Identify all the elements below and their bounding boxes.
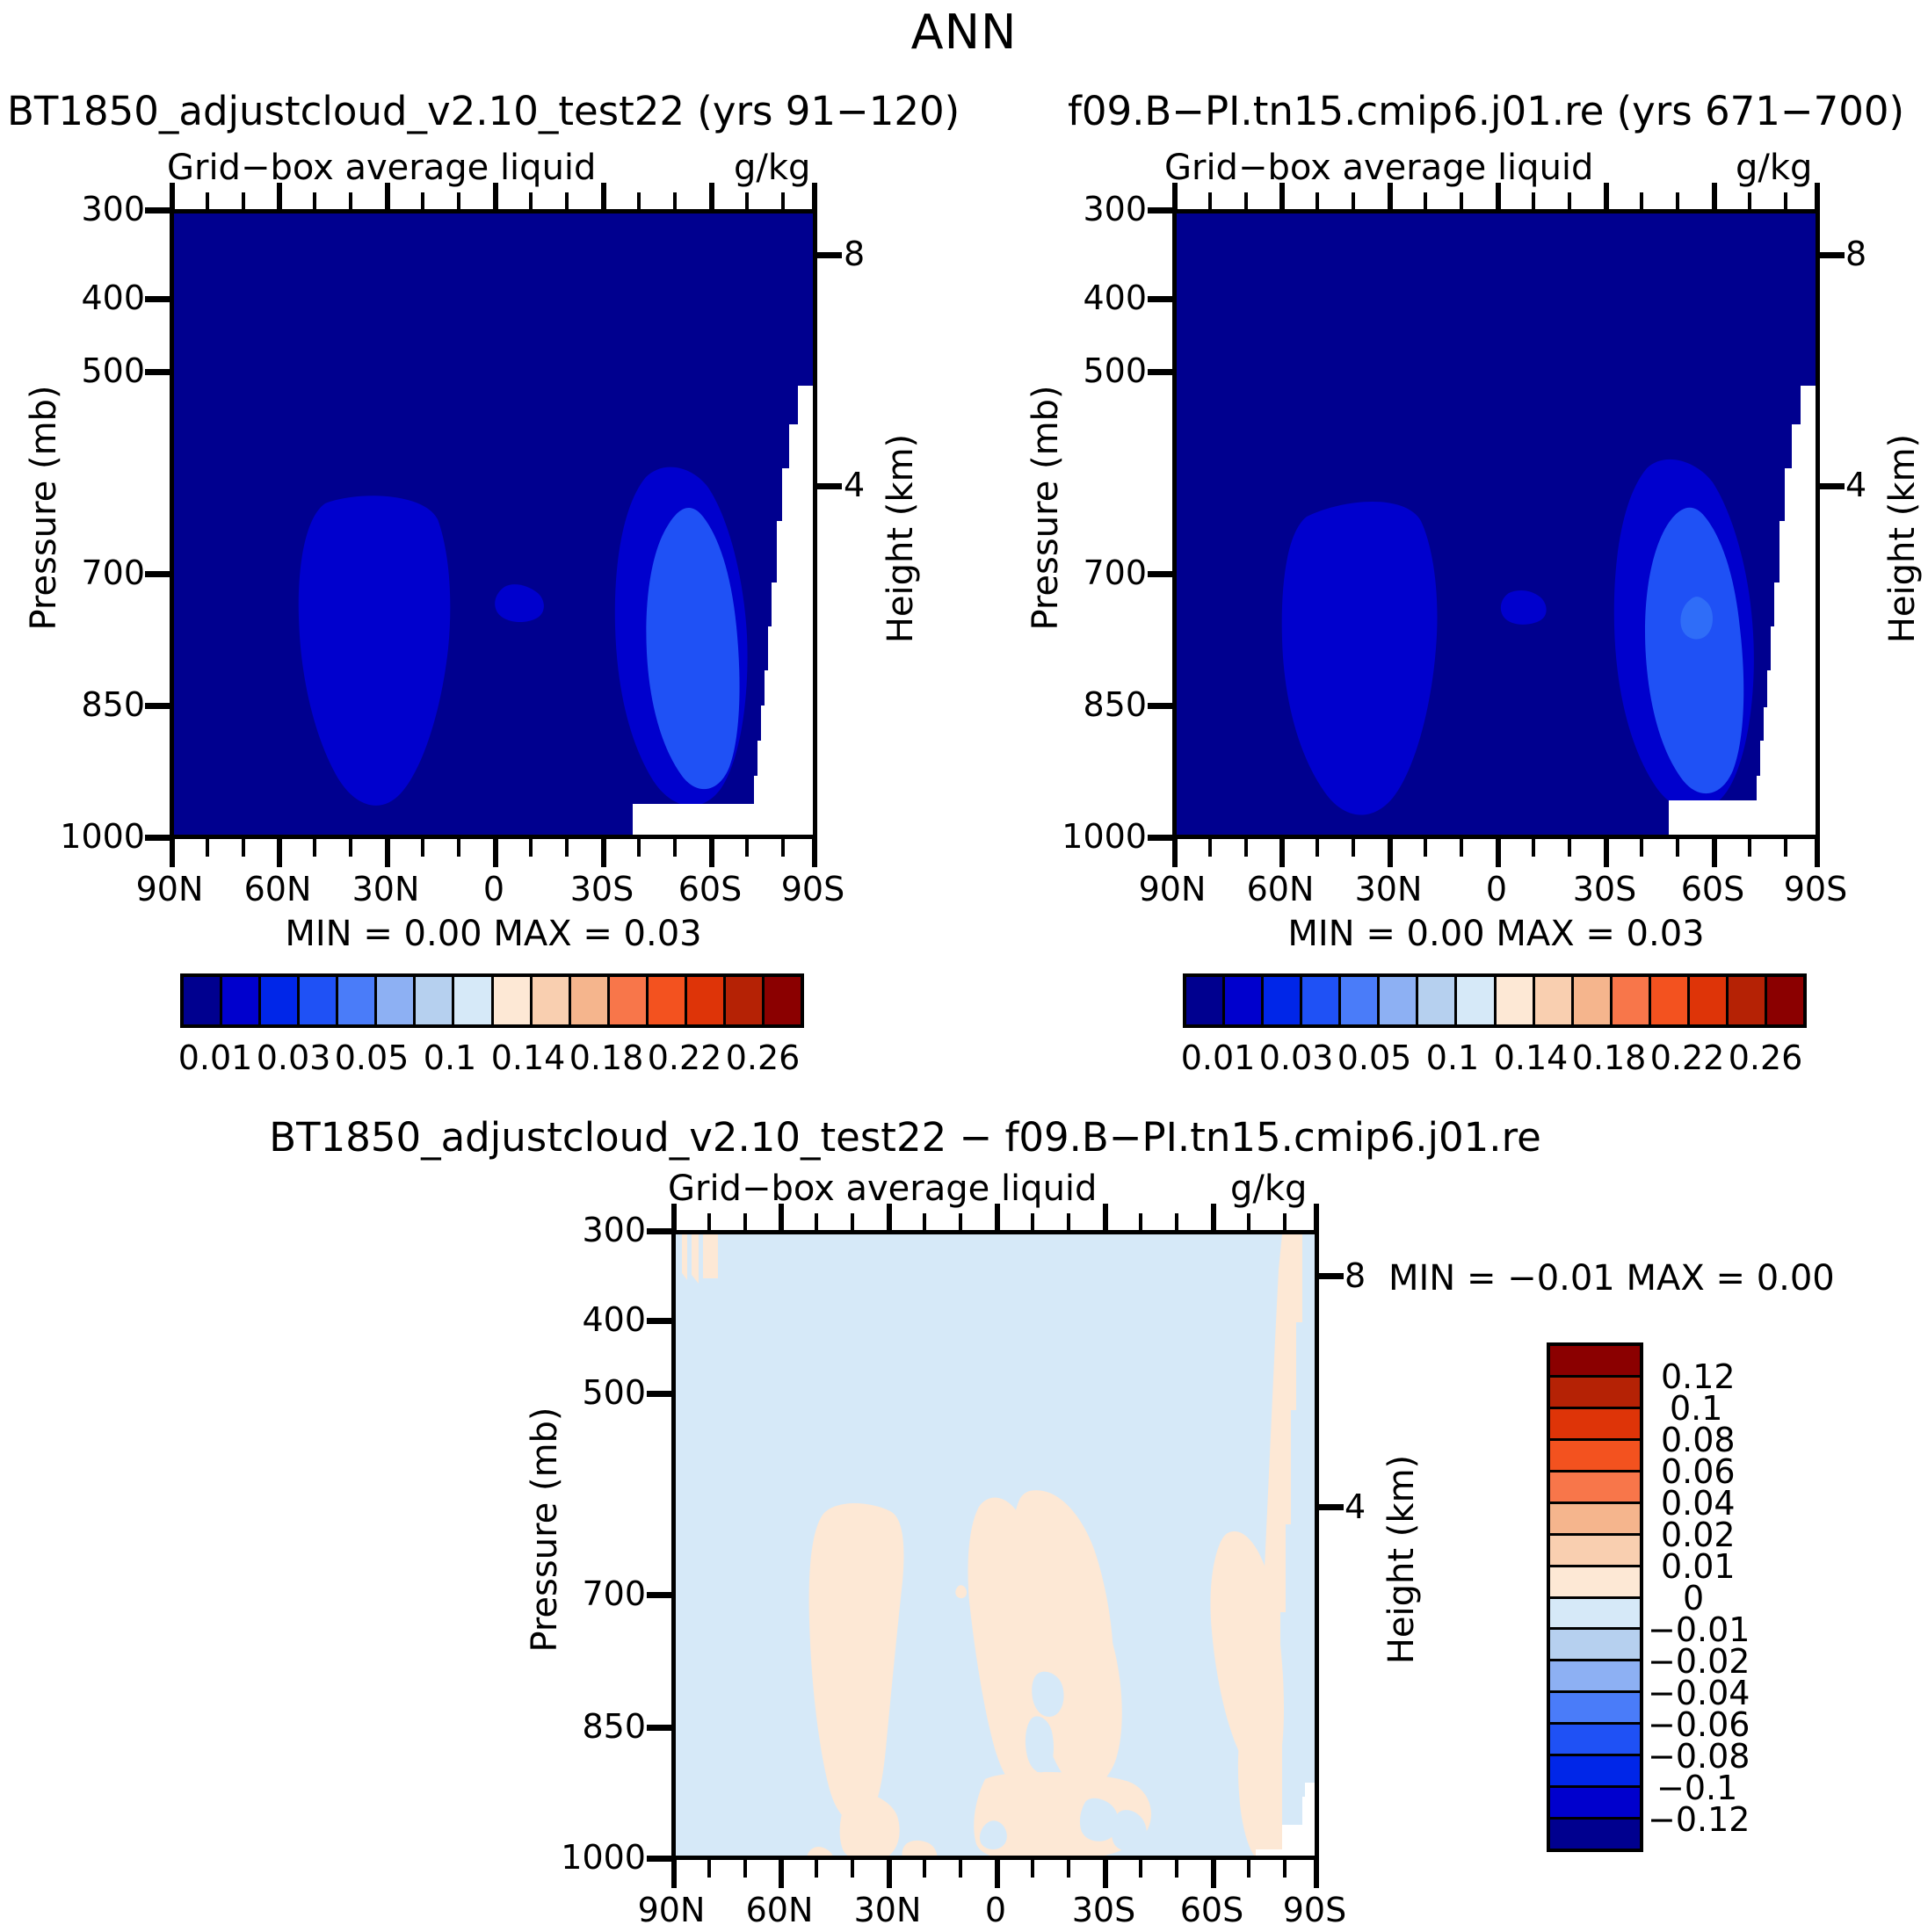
cbar-r-cell-9[interactable] <box>1535 977 1574 1024</box>
cbar-cell-0[interactable] <box>184 977 222 1024</box>
diff-minmax: MIN = −0.01 MAX = 0.00 <box>1388 1258 1835 1299</box>
top-right-xtick-top-1 <box>1279 183 1285 211</box>
diff-xtick-bot-minor-3 <box>851 1860 854 1878</box>
top-right-y2tick-4: 4 <box>1845 466 1866 504</box>
top-right-ytick-mark-500 <box>1148 369 1174 375</box>
top-left-xtick-top-6 <box>812 183 817 211</box>
top-right-xtick-top-3 <box>1496 183 1501 211</box>
top-left-ytick-mark-500 <box>145 369 171 375</box>
diff-xtick-bot-minor-10 <box>1247 1860 1250 1878</box>
top-right-ytick-mark-300 <box>1148 207 1174 213</box>
top-left-xtick-top-minor-7 <box>565 192 569 210</box>
top-right-xtick-bot-minor-3 <box>1352 839 1355 857</box>
top-right-xtick-bot-6 <box>1815 839 1820 867</box>
top-left-xtick-top-0 <box>170 183 175 211</box>
top-left-xtick-top-minor-1 <box>242 192 245 210</box>
cbar-r-cell-4[interactable] <box>1341 977 1380 1024</box>
cbar-r-label-4: 0.14 <box>1491 1038 1570 1077</box>
cbar-cell-4[interactable] <box>338 977 377 1024</box>
top-right-xtick-bot-2 <box>1388 839 1393 867</box>
cbar-r-cell-3[interactable] <box>1302 977 1341 1024</box>
top-left-xtick-top-minor-3 <box>349 192 352 210</box>
top-right-ytick-mark-850 <box>1148 703 1174 709</box>
cbarv-cell-11[interactable] <box>1550 1693 1640 1725</box>
top-left-xtick-bot-5 <box>709 839 714 867</box>
diff-xtick-top-minor-8 <box>1139 1213 1142 1231</box>
top-left-xtick-bot-3 <box>493 839 498 867</box>
diff-xtick-top-minor-11 <box>1283 1213 1287 1231</box>
top-left-xtick-top-minor-9 <box>673 192 677 210</box>
diff-xtick-bot-minor-9 <box>1175 1860 1178 1878</box>
top-left-panel-title: BT1850_adjustcloud_v2.10_test22 (yrs 91−… <box>7 88 1009 134</box>
diff-ytick-300: 300 <box>571 1211 646 1249</box>
top-left-ytick-mark-400 <box>145 296 171 302</box>
top-right-ytick-mark-700 <box>1148 571 1174 577</box>
cbar-r-label-2: 0.05 <box>1335 1038 1414 1077</box>
top-left-xtick-bot-4 <box>601 839 606 867</box>
cbar-r-cell-13[interactable] <box>1690 977 1729 1024</box>
top-right-plot <box>1172 209 1820 839</box>
top-left-xtick-label-0: 0 <box>446 870 542 908</box>
top-right-xtick-top-minor-7 <box>1568 192 1571 210</box>
cbar-r-cell-14[interactable] <box>1729 977 1767 1024</box>
top-right-xtick-bot-minor-4 <box>1424 839 1427 857</box>
cbarv-label-14: −0.12 <box>1648 1800 1750 1839</box>
top-right-xtick-top-minor-2 <box>1316 192 1319 210</box>
cbar-label-1: 0.03 <box>254 1038 333 1077</box>
top-left-xtick-bot-2 <box>385 839 390 867</box>
diff-xtick-top-2 <box>887 1204 892 1232</box>
top-right-xtick-bot-5 <box>1712 839 1717 867</box>
top-right-xtick-label-0: 0 <box>1448 870 1545 908</box>
top-left-plot <box>170 209 817 839</box>
cbar-r-cell-10[interactable] <box>1574 977 1613 1024</box>
top-right-xtick-top-minor-11 <box>1784 192 1787 210</box>
top-right-xtick-top-5 <box>1712 183 1717 211</box>
top-right-xtick-label-30S: 30S <box>1556 870 1653 908</box>
cbar-r-cell-12[interactable] <box>1651 977 1690 1024</box>
cbarv-cell-9[interactable] <box>1550 1630 1640 1661</box>
top-right-xtick-bot-4 <box>1604 839 1609 867</box>
top-left-xtick-bot-minor-7 <box>565 839 569 857</box>
diff-xtick-top-minor-9 <box>1175 1213 1178 1231</box>
top-right-colorbar[interactable] <box>1183 973 1807 1028</box>
top-right-xtick-top-minor-10 <box>1748 192 1751 210</box>
diff-contour-field <box>676 1234 1319 1860</box>
top-right-contour-field <box>1177 213 1820 839</box>
cbarv-cell-5[interactable] <box>1550 1504 1640 1536</box>
cbar-cell-5[interactable] <box>377 977 416 1024</box>
top-left-xtick-top-1 <box>277 183 282 211</box>
top-right-xtick-label-60N: 60N <box>1232 870 1329 908</box>
diff-ytick-mark-300 <box>647 1228 673 1234</box>
top-left-colorbar[interactable] <box>180 973 804 1028</box>
diff-y2tick-4: 4 <box>1345 1487 1366 1526</box>
top-left-y2tick-mark-4 <box>815 483 842 489</box>
cbar-r-cell-11[interactable] <box>1613 977 1651 1024</box>
diff-xtick-label-60S: 60S <box>1163 1891 1260 1929</box>
top-left-y2tick-mark-8 <box>815 252 842 258</box>
diff-plot <box>671 1230 1319 1860</box>
diff-xtick-top-5 <box>1211 1204 1216 1232</box>
diff-plot-canvas <box>676 1234 1315 1856</box>
top-left-xtick-bot-minor-4 <box>421 839 424 857</box>
top-left-ytick-mark-1000 <box>145 835 171 841</box>
top-right-xtick-top-minor-4 <box>1424 192 1427 210</box>
diff-xtick-label-0: 0 <box>947 1891 1044 1929</box>
top-left-xtick-top-minor-0 <box>206 192 209 210</box>
cbarv-cell-1[interactable] <box>1550 1378 1640 1409</box>
diff-xtick-top-minor-1 <box>743 1213 747 1231</box>
cbar-cell-2[interactable] <box>261 977 300 1024</box>
top-right-xtick-bot-1 <box>1279 839 1285 867</box>
top-right-ytick-mark-400 <box>1148 296 1174 302</box>
top-right-xtick-top-minor-6 <box>1532 192 1535 210</box>
diff-xtick-top-minor-10 <box>1247 1213 1250 1231</box>
top-left-xtick-top-minor-4 <box>421 192 424 210</box>
top-left-xtick-bot-minor-2 <box>313 839 316 857</box>
cbar-label-2: 0.05 <box>332 1038 411 1077</box>
diff-y2tick-mark-8 <box>1317 1273 1344 1279</box>
diff-xtick-bot-3 <box>995 1860 1000 1888</box>
diff-xtick-bot-minor-7 <box>1067 1860 1070 1878</box>
cbarv-cell-13[interactable] <box>1550 1756 1640 1788</box>
cbarv-cell-8[interactable] <box>1550 1599 1640 1631</box>
cbar-r-label-3: 0.1 <box>1413 1038 1492 1077</box>
cbarv-cell-15[interactable] <box>1550 1820 1640 1849</box>
cbarv-cell-6[interactable] <box>1550 1536 1640 1567</box>
diff-xtick-top-0 <box>671 1204 677 1232</box>
top-left-xtick-bot-6 <box>812 839 817 867</box>
top-left-ytick-1000: 1000 <box>53 817 145 856</box>
cbar-cell-14[interactable] <box>726 977 765 1024</box>
cbarv-cell-10[interactable] <box>1550 1661 1640 1693</box>
diff-xtick-label-30S: 30S <box>1055 1891 1152 1929</box>
top-right-xtick-label-90N: 90N <box>1124 870 1221 908</box>
top-right-xtick-bot-minor-1 <box>1244 839 1248 857</box>
top-right-units-label: g/kg <box>1736 148 1812 188</box>
top-left-ytick-300: 300 <box>70 190 145 228</box>
top-left-ytick-mark-700 <box>145 571 171 577</box>
diff-units-label: g/kg <box>1230 1169 1307 1209</box>
diff-xtick-bot-4 <box>1103 1860 1108 1888</box>
top-right-xtick-label-60S: 60S <box>1664 870 1761 908</box>
top-left-contour-field <box>174 213 817 839</box>
cbar-r-label-7: 0.26 <box>1726 1038 1805 1077</box>
diff-ytick-400: 400 <box>571 1300 646 1339</box>
diff-ytick-mark-1000 <box>647 1856 673 1862</box>
cbar-label-6: 0.22 <box>645 1038 724 1077</box>
diff-xtick-bot-2 <box>887 1860 892 1888</box>
top-left-xtick-top-minor-8 <box>637 192 641 210</box>
diff-xtick-label-30N: 30N <box>839 1891 936 1929</box>
top-right-y2label: Height (km) <box>1882 394 1923 684</box>
cbar-r-cell-7[interactable] <box>1457 977 1496 1024</box>
top-left-minmax: MIN = 0.00 MAX = 0.03 <box>170 914 817 954</box>
diff-y2tick-mark-4 <box>1317 1504 1344 1510</box>
top-right-xtick-top-minor-1 <box>1244 192 1248 210</box>
diff-panel-title: BT1850_adjustcloud_v2.10_test22 − f09.B−… <box>0 1114 1810 1161</box>
top-left-xtick-top-4 <box>601 183 606 211</box>
cbarv-cell-3[interactable] <box>1550 1441 1640 1473</box>
top-right-xtick-top-2 <box>1388 183 1393 211</box>
top-left-xtick-top-minor-11 <box>781 192 785 210</box>
top-right-y2tick-mark-8 <box>1818 252 1845 258</box>
diff-ytick-mark-850 <box>647 1725 673 1731</box>
top-right-ytick-500: 500 <box>1072 351 1147 390</box>
page-title: ANN <box>0 4 1928 60</box>
cbar-label-7: 0.26 <box>723 1038 802 1077</box>
top-left-ytick-mark-850 <box>145 703 171 709</box>
cbarv-cell-7[interactable] <box>1550 1567 1640 1599</box>
top-left-ytick-700: 700 <box>70 554 145 592</box>
top-left-y2tick-4: 4 <box>844 466 865 504</box>
top-right-y2tick-mark-4 <box>1818 483 1845 489</box>
top-left-ytick-850: 850 <box>70 685 145 724</box>
cbar-cell-8[interactable] <box>494 977 533 1024</box>
top-left-xtick-bot-minor-10 <box>745 839 749 857</box>
top-left-xtick-label-60N: 60N <box>229 870 326 908</box>
diff-xtick-top-minor-2 <box>815 1213 818 1231</box>
diff-xtick-top-4 <box>1103 1204 1108 1232</box>
top-left-xtick-label-30N: 30N <box>337 870 434 908</box>
top-left-ytick-400: 400 <box>70 279 145 317</box>
top-right-var-label: Grid−box average liquid <box>1164 148 1593 188</box>
cbar-label-0: 0.01 <box>176 1038 255 1077</box>
top-right-ytick-850: 850 <box>1072 685 1147 724</box>
cbar-cell-10[interactable] <box>571 977 610 1024</box>
top-right-xtick-bot-minor-10 <box>1748 839 1751 857</box>
diff-xtick-label-90N: 90N <box>623 1891 720 1929</box>
top-left-xtick-bot-minor-6 <box>529 839 533 857</box>
top-right-xtick-bot-minor-6 <box>1532 839 1535 857</box>
top-right-minmax: MIN = 0.00 MAX = 0.03 <box>1172 914 1820 954</box>
top-left-xtick-bot-minor-3 <box>349 839 352 857</box>
diff-xtick-top-minor-6 <box>1031 1213 1034 1231</box>
top-left-xtick-label-60S: 60S <box>662 870 758 908</box>
top-left-xtick-top-minor-5 <box>457 192 460 210</box>
cbar-r-label-1: 0.03 <box>1257 1038 1336 1077</box>
cbarv-cell-12[interactable] <box>1550 1725 1640 1756</box>
top-right-xtick-label-30N: 30N <box>1340 870 1437 908</box>
cbar-cell-1[interactable] <box>222 977 261 1024</box>
cbar-r-cell-2[interactable] <box>1264 977 1302 1024</box>
diff-xtick-label-60N: 60N <box>731 1891 828 1929</box>
diff-xtick-bot-minor-5 <box>959 1860 962 1878</box>
top-right-xtick-top-minor-3 <box>1352 192 1355 210</box>
top-left-xtick-top-minor-10 <box>745 192 749 210</box>
top-left-xtick-label-90N: 90N <box>121 870 218 908</box>
top-right-xtick-top-6 <box>1815 183 1820 211</box>
top-right-xtick-bot-minor-7 <box>1568 839 1571 857</box>
diff-xtick-bot-minor-6 <box>1031 1860 1034 1878</box>
top-left-xtick-label-90S: 90S <box>765 870 861 908</box>
top-right-ylabel: Pressure (mb) <box>1026 363 1066 653</box>
cbar-r-cell-1[interactable] <box>1225 977 1264 1024</box>
diff-ytick-500: 500 <box>571 1373 646 1412</box>
cbar-cell-6[interactable] <box>416 977 454 1024</box>
top-left-xtick-bot-minor-8 <box>637 839 641 857</box>
top-left-xtick-bot-0 <box>170 839 175 867</box>
cbar-cell-7[interactable] <box>454 977 493 1024</box>
top-right-xtick-top-minor-9 <box>1676 192 1679 210</box>
diff-ylabel: Pressure (mb) <box>525 1385 565 1675</box>
diff-xtick-top-1 <box>779 1204 784 1232</box>
cbar-cell-9[interactable] <box>533 977 571 1024</box>
top-right-xtick-top-minor-8 <box>1640 192 1643 210</box>
top-right-xtick-top-0 <box>1172 183 1178 211</box>
diff-xtick-bot-minor-2 <box>815 1860 818 1878</box>
top-right-xtick-bot-minor-0 <box>1208 839 1212 857</box>
diff-ytick-1000: 1000 <box>554 1838 646 1877</box>
diff-xtick-bot-minor-0 <box>707 1860 711 1878</box>
top-right-xtick-bot-minor-8 <box>1640 839 1643 857</box>
top-left-units-label: g/kg <box>734 148 810 188</box>
cbarv-cell-2[interactable] <box>1550 1409 1640 1441</box>
top-left-ytick-500: 500 <box>70 351 145 390</box>
diff-ytick-mark-500 <box>647 1391 673 1397</box>
cbar-r-cell-0[interactable] <box>1186 977 1225 1024</box>
top-left-xtick-bot-minor-11 <box>781 839 785 857</box>
cbar-label-3: 0.1 <box>410 1038 489 1077</box>
top-right-xtick-top-minor-0 <box>1208 192 1212 210</box>
diff-xtick-bot-minor-8 <box>1139 1860 1142 1878</box>
top-left-xtick-bot-1 <box>277 839 282 867</box>
top-left-xtick-label-30S: 30S <box>554 870 650 908</box>
top-left-y2label: Height (km) <box>881 394 921 684</box>
cbarv-cell-0[interactable] <box>1550 1346 1640 1378</box>
diff-xtick-top-minor-3 <box>851 1213 854 1231</box>
diff-xtick-top-minor-0 <box>707 1213 711 1231</box>
diff-ytick-850: 850 <box>571 1707 646 1746</box>
top-left-xtick-bot-minor-1 <box>242 839 245 857</box>
diff-xtick-top-6 <box>1314 1204 1319 1232</box>
top-left-ylabel: Pressure (mb) <box>24 363 64 653</box>
top-right-plot-canvas <box>1177 213 1816 835</box>
cbar-cell-12[interactable] <box>649 977 687 1024</box>
cbar-r-cell-5[interactable] <box>1380 977 1418 1024</box>
top-left-xtick-bot-minor-9 <box>673 839 677 857</box>
top-right-xtick-label-90S: 90S <box>1767 870 1864 908</box>
diff-xtick-bot-6 <box>1314 1860 1319 1888</box>
top-right-xtick-bot-minor-11 <box>1784 839 1787 857</box>
top-right-xtick-bot-minor-5 <box>1460 839 1463 857</box>
diff-xtick-bot-0 <box>671 1860 677 1888</box>
diff-xtick-top-minor-7 <box>1067 1213 1070 1231</box>
top-right-xtick-bot-3 <box>1496 839 1501 867</box>
top-left-var-label: Grid−box average liquid <box>167 148 596 188</box>
diff-colorbar[interactable] <box>1547 1342 1643 1852</box>
top-right-panel-title: f09.B−PI.tn15.cmip6.j01.re (yrs 671−700) <box>1068 88 1928 134</box>
cbar-r-label-6: 0.22 <box>1648 1038 1727 1077</box>
top-right-ytick-mark-1000 <box>1148 835 1174 841</box>
diff-xtick-top-minor-4 <box>923 1213 926 1231</box>
cbarv-cell-4[interactable] <box>1550 1473 1640 1504</box>
diff-var-label: Grid−box average liquid <box>668 1169 1097 1209</box>
diff-xtick-bot-minor-11 <box>1283 1860 1287 1878</box>
diff-ytick-700: 700 <box>571 1574 646 1613</box>
diff-y2tick-8: 8 <box>1345 1256 1366 1295</box>
top-left-y2tick-8: 8 <box>844 235 865 273</box>
top-right-y2tick-8: 8 <box>1845 235 1866 273</box>
cbarv-cell-14[interactable] <box>1550 1788 1640 1820</box>
diff-xtick-top-3 <box>995 1204 1000 1232</box>
cbar-cell-3[interactable] <box>300 977 338 1024</box>
diff-xtick-label-90S: 90S <box>1266 1891 1363 1929</box>
top-right-xtick-top-minor-5 <box>1460 192 1463 210</box>
diff-ytick-mark-400 <box>647 1318 673 1324</box>
diff-ytick-mark-700 <box>647 1592 673 1598</box>
top-left-ytick-mark-300 <box>145 207 171 213</box>
top-left-xtick-bot-minor-0 <box>206 839 209 857</box>
top-left-xtick-top-minor-6 <box>529 192 533 210</box>
top-right-xtick-bot-0 <box>1172 839 1178 867</box>
top-right-ytick-400: 400 <box>1072 279 1147 317</box>
cbar-r-cell-8[interactable] <box>1497 977 1535 1024</box>
top-right-ytick-700: 700 <box>1072 554 1147 592</box>
top-left-xtick-top-minor-2 <box>313 192 316 210</box>
cbar-cell-11[interactable] <box>610 977 649 1024</box>
cbar-r-label-0: 0.01 <box>1178 1038 1258 1077</box>
cbar-r-cell-6[interactable] <box>1418 977 1457 1024</box>
top-right-xtick-bot-minor-2 <box>1316 839 1319 857</box>
cbar-label-4: 0.14 <box>489 1038 568 1077</box>
cbar-r-label-5: 0.18 <box>1569 1038 1649 1077</box>
cbar-r-cell-15[interactable] <box>1767 977 1803 1024</box>
top-right-ytick-1000: 1000 <box>1055 817 1147 856</box>
top-left-plot-canvas <box>174 213 813 835</box>
top-left-xtick-top-2 <box>385 183 390 211</box>
top-right-xtick-bot-minor-9 <box>1676 839 1679 857</box>
top-left-xtick-top-5 <box>709 183 714 211</box>
cbar-cell-13[interactable] <box>687 977 726 1024</box>
top-right-xtick-top-4 <box>1604 183 1609 211</box>
diff-xtick-bot-1 <box>779 1860 784 1888</box>
top-left-xtick-top-3 <box>493 183 498 211</box>
cbar-cell-15[interactable] <box>765 977 801 1024</box>
diff-y2label: Height (km) <box>1381 1415 1422 1704</box>
diff-xtick-top-minor-5 <box>959 1213 962 1231</box>
top-left-xtick-bot-minor-5 <box>457 839 460 857</box>
top-right-ytick-300: 300 <box>1072 190 1147 228</box>
diff-xtick-bot-5 <box>1211 1860 1216 1888</box>
diff-xtick-bot-minor-1 <box>743 1860 747 1878</box>
diff-xtick-bot-minor-4 <box>923 1860 926 1878</box>
cbar-label-5: 0.18 <box>567 1038 646 1077</box>
